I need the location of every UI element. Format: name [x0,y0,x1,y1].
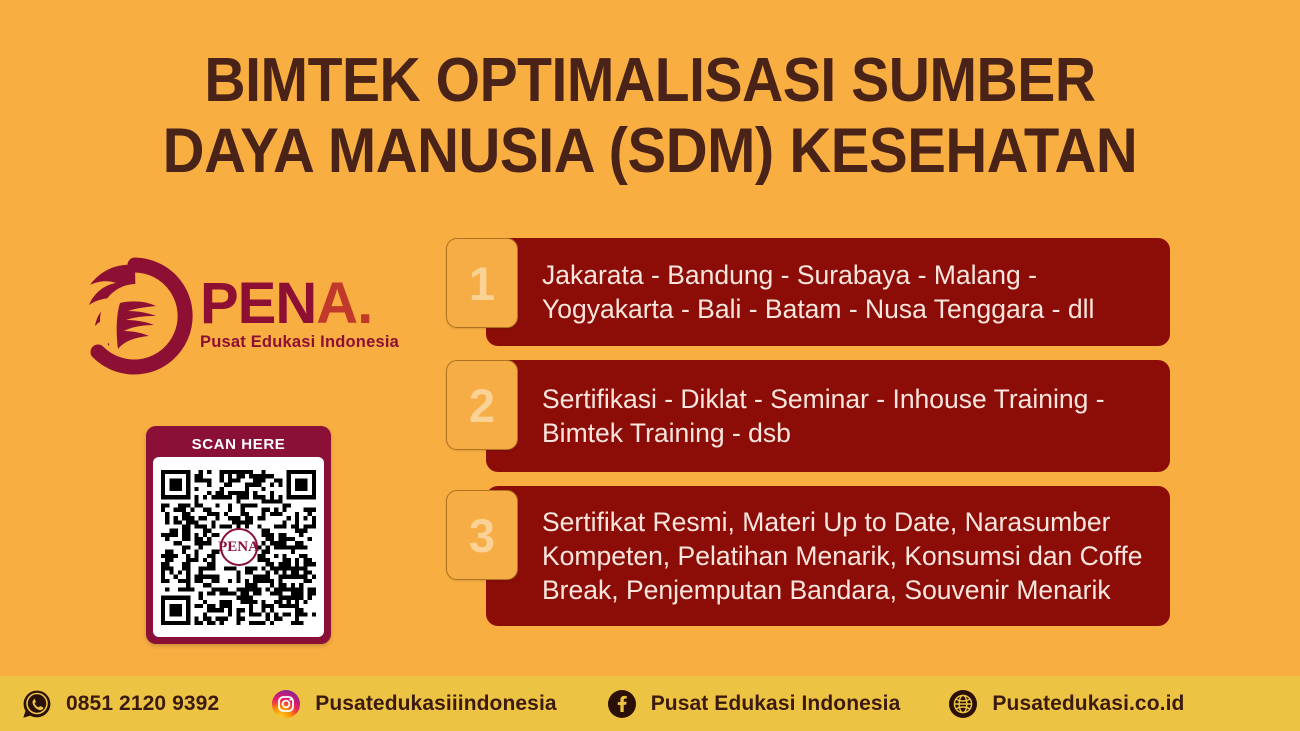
facebook-icon [607,689,637,719]
qr-code-image: PENA [161,470,316,625]
whatsapp-number: 0851 2120 9392 [66,692,219,716]
facebook-page: Pusat Edukasi Indonesia [651,692,901,716]
qr-scan-card[interactable]: SCAN HERE PENA [146,426,331,644]
poster-title: BIMTEK OPTIMALISASI SUMBER DAYA MANUSIA … [0,46,1300,186]
footer-item-whatsapp[interactable]: 0851 2120 9392 [22,689,219,719]
info-row: 2 Sertifikasi - Diklat - Seminar - Inhou… [446,360,1170,472]
pena-logo: PENA. Pusat Edukasi Indonesia [76,255,428,377]
instagram-icon [271,689,301,719]
title-line-1: BIMTEK OPTIMALISASI SUMBER [52,46,1248,116]
title-line-2: DAYA MANUSIA (SDM) KESEHATAN [52,116,1248,186]
contact-footer: 0851 2120 9392 [0,676,1300,731]
pena-tagline: Pusat Edukasi Indonesia [200,333,399,352]
row-panel: Sertifikasi - Diklat - Seminar - Inhouse… [486,360,1170,472]
globe-icon [948,689,978,719]
pena-word-dot: . [357,271,372,336]
row-panel: Jakarata - Bandung - Surabaya - Malang -… [486,238,1170,346]
row-number: 2 [469,382,495,429]
footer-item-facebook[interactable]: Pusat Edukasi Indonesia [607,689,901,719]
footer-item-instagram[interactable]: Pusatedukasiiindonesia [271,689,556,719]
instagram-handle: Pusatedukasiiindonesia [315,692,556,716]
row-text: Sertifikat Resmi, Materi Up to Date, Nar… [542,505,1148,607]
qr-code-frame: PENA [153,457,324,637]
pena-word-a: A [316,271,357,336]
pena-logo-text: PENA. Pusat Edukasi Indonesia [200,276,399,356]
pena-wordmark: PENA. [200,276,399,332]
row-number-badge: 1 [446,238,518,328]
qr-center-logo: PENA [220,528,258,566]
row-panel: Sertifikat Resmi, Materi Up to Date, Nar… [486,486,1170,626]
row-number-badge: 3 [446,490,518,580]
row-number: 1 [469,260,495,307]
info-row: 1 Jakarata - Bandung - Surabaya - Malang… [446,238,1170,346]
poster-canvas: BIMTEK OPTIMALISASI SUMBER DAYA MANUSIA … [0,0,1300,731]
row-text: Jakarata - Bandung - Surabaya - Malang -… [542,258,1148,326]
pena-word-pen: PEN [200,271,316,336]
row-text: Sertifikasi - Diklat - Seminar - Inhouse… [542,382,1148,450]
row-number: 3 [469,512,495,559]
info-rows: 1 Jakarata - Bandung - Surabaya - Malang… [446,238,1170,640]
website-url: Pusatedukasi.co.id [992,692,1184,716]
info-row: 3 Sertifikat Resmi, Materi Up to Date, N… [446,486,1170,626]
scan-here-label: SCAN HERE [153,433,324,457]
whatsapp-icon [22,689,52,719]
footer-item-website[interactable]: Pusatedukasi.co.id [948,689,1184,719]
row-number-badge: 2 [446,360,518,450]
pena-feather-circle-logo-icon [76,257,194,375]
